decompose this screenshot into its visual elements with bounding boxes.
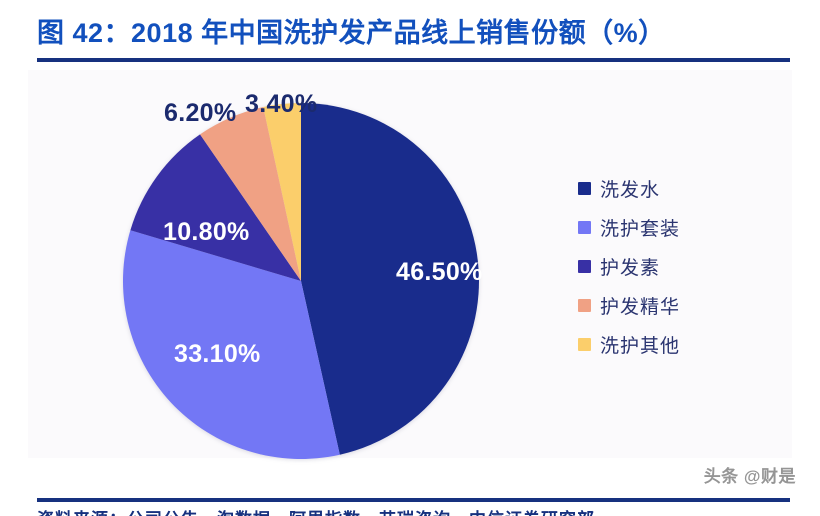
slice-label-shampoo: 46.50% [396,258,483,287]
legend-item-label: 洗发水 [600,175,660,202]
slice-label-conditioner: 10.80% [163,218,250,247]
legend-swatch-icon [578,182,591,195]
legend-item[interactable]: 洗护套装 [578,217,680,237]
legend-item-label: 护发素 [600,253,660,280]
legend-item[interactable]: 护发素 [578,256,680,276]
figure-container: 图 42：2018 年中国洗护发产品线上销售份额（%） 46.50% 33.10… [0,0,820,516]
legend-item[interactable]: 洗护其他 [578,334,680,354]
slice-label-hair-essence: 6.20% [164,99,236,128]
legend-item-label: 洗护其他 [600,331,680,358]
legend-swatch-icon [578,338,591,351]
legend-swatch-icon [578,260,591,273]
legend-swatch-icon [578,299,591,312]
watermark: 头条 @财是 [704,462,796,487]
page-title: 图 42：2018 年中国洗护发产品线上销售份额（%） [37,11,797,50]
legend-item[interactable]: 洗发水 [578,178,680,198]
legend-item[interactable]: 护发精华 [578,295,680,315]
source-note: 资料来源：公司公告、淘数据、阿里指数、艾瑞咨询、中信证券研究部 [37,505,790,516]
title-divider [37,58,790,62]
legend-item-label: 护发精华 [600,292,680,319]
slice-label-care-set: 33.10% [174,340,261,369]
footer-divider [37,498,790,502]
slice-label-other: 3.40% [245,90,317,119]
legend-item-label: 洗护套装 [600,214,680,241]
legend-swatch-icon [578,221,591,234]
chart-legend: 洗发水洗护套装护发素护发精华洗护其他 [578,178,680,354]
